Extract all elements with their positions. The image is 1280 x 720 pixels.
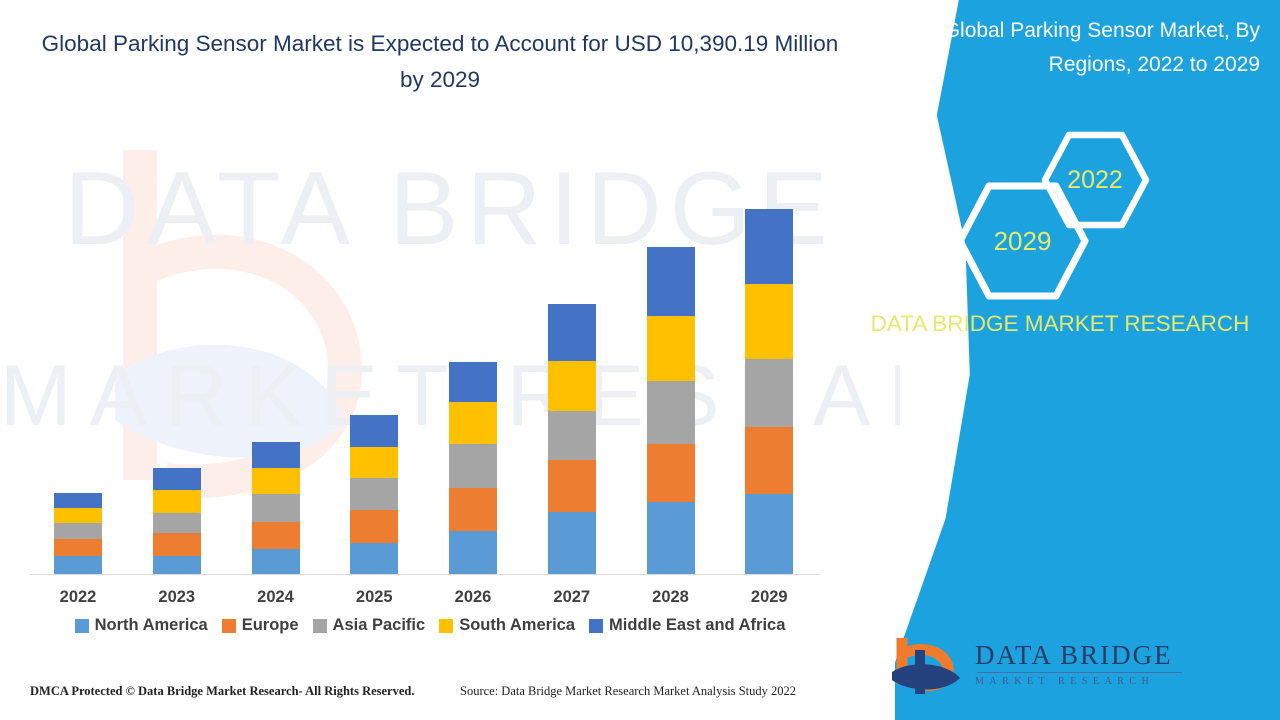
legend-item[interactable]: Asia Pacific [313,616,426,635]
source-note: Source: Data Bridge Market Research Mark… [460,684,796,699]
x-axis-tick-label: 2027 [524,588,620,607]
bar-segment [745,209,793,284]
legend-label: South America [459,616,575,635]
bar-stack [745,209,793,574]
bar-segment [449,531,497,574]
bar-segment [647,502,695,574]
logo-wordmark: DATA BRIDGE MARKET RESEARCH [975,640,1225,687]
bar-segment [548,411,596,459]
bar-segment [252,442,300,468]
bar-group [228,442,324,574]
bar-group [30,493,126,574]
bar-stack [153,468,201,574]
legend-item[interactable]: South America [439,616,575,635]
bar-stack [548,304,596,574]
bar-segment [548,361,596,411]
bar-segment [54,556,102,574]
legend-item[interactable]: Europe [222,616,299,635]
bar-segment [449,488,497,530]
x-axis-tick-label: 2028 [623,588,719,607]
legend-item[interactable]: North America [75,616,208,635]
legend-label: Middle East and Africa [609,616,785,635]
logo-divider [977,672,1182,673]
x-axis-tick-label: 2026 [425,588,521,607]
bar-stack [449,362,497,574]
logo-title: DATA BRIDGE [975,640,1225,670]
x-axis-tick-label: 2029 [721,588,817,607]
bar-segment [252,494,300,522]
bar-group [623,247,719,574]
bar-segment [54,539,102,556]
bar-segment [745,359,793,427]
brand-name: DATA BRIDGE MARKET RESEARCH [850,308,1270,340]
legend-swatch [75,619,89,633]
bar-segment [647,247,695,316]
page-title: Global Parking Sensor Market is Expected… [40,26,840,98]
logo-subtitle: MARKET RESEARCH [975,676,1225,687]
bar-group [129,468,225,574]
bar-segment [548,304,596,361]
bar-stack [54,493,102,574]
bar-segment [745,284,793,358]
bar-stack [647,247,695,574]
legend-item[interactable]: Middle East and Africa [589,616,785,635]
bar-segment [647,444,695,502]
bar-segment [252,522,300,549]
legend-label: Asia Pacific [333,616,426,635]
bar-segment [449,444,497,488]
bar-stack [350,415,398,574]
bar-segment [350,415,398,447]
hexagon-end-year-label: 2029 [994,226,1052,257]
legend-swatch [222,619,236,633]
bar-segment [54,493,102,508]
bar-segment [153,533,201,555]
data-bridge-logo-icon [890,632,966,698]
company-logo: DATA BRIDGE MARKET RESEARCH [890,632,1230,702]
chart-panel: DATA BRIDGE MARKET RESEARCH Global Parki… [0,0,900,720]
x-axis-tick-label: 2025 [326,588,422,607]
bar-segment [745,427,793,494]
bar-segment [54,508,102,524]
bar-segment [350,478,398,510]
bar-segment [647,381,695,444]
x-axis-tick-label: 2022 [30,588,126,607]
bar-segment [647,316,695,380]
x-axis-tick-label: 2023 [129,588,225,607]
bar-segment [153,468,201,490]
bar-segment [548,460,596,513]
dmca-notice: DMCA Protected © Data Bridge Market Rese… [30,684,415,699]
x-axis-tick-label: 2024 [228,588,324,607]
chart-legend: North AmericaEuropeAsia PacificSouth Ame… [30,616,830,635]
bar-group [721,209,817,574]
bar-segment [153,490,201,512]
bar-segment [350,543,398,574]
bar-segment [252,549,300,574]
bar-segment [350,510,398,542]
brand-panel: Global Parking Sensor Market, By Regions… [840,0,1280,720]
x-axis-line [30,574,820,575]
bar-segment [548,512,596,574]
bar-segment [350,447,398,478]
footer: DMCA Protected © Data Bridge Market Rese… [0,684,860,706]
legend-swatch [589,619,603,633]
bar-segment [153,513,201,534]
bar-segment [449,402,497,444]
legend-label: North America [95,616,208,635]
bar-segment [449,362,497,403]
hexagon-start-year: 2022 [1040,130,1150,230]
bar-segment [54,523,102,538]
brand-background [840,0,1280,720]
legend-swatch [313,619,327,633]
bar-group [326,415,422,574]
legend-label: Europe [242,616,299,635]
hexagon-start-year-label: 2022 [1067,166,1123,195]
bar-segment [252,468,300,494]
brand-panel-title: Global Parking Sensor Market, By Regions… [860,14,1260,82]
bar-group [524,304,620,574]
bar-segment [153,556,201,574]
bar-segment [745,494,793,574]
bar-group [425,362,521,574]
legend-swatch [439,619,453,633]
plot-area [30,130,820,575]
bar-stack [252,442,300,574]
x-axis-labels: 20222023202420252026202720282029 [30,588,820,614]
